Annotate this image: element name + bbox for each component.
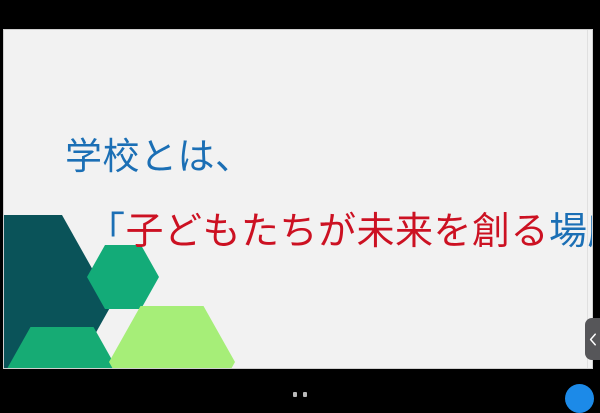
- presentation-viewer: 学校とは、 「子どもたちが未来を創る場所」: [0, 0, 600, 400]
- slide-text-block: 学校とは、 「子どもたちが未来を創る場所」: [4, 30, 592, 368]
- slide-quote-close: 場所」: [549, 209, 592, 253]
- slide-quote-emphasis: 子どもたちが未来を創る: [126, 209, 550, 253]
- drawer-toggle-button[interactable]: [585, 318, 600, 360]
- blue-circle-icon[interactable]: [565, 384, 594, 413]
- pagination-dot[interactable]: [293, 392, 297, 397]
- slide-heading-line-2: 「子どもたちが未来を創る場所」: [87, 200, 592, 255]
- slide-pagination-dots[interactable]: [0, 392, 600, 397]
- presentation-slide[interactable]: 学校とは、 「子どもたちが未来を創る場所」: [4, 30, 592, 368]
- slide-heading-line-1: 学校とは、: [65, 126, 253, 180]
- slide-quote-open-bracket: 「: [87, 209, 126, 253]
- pagination-dot[interactable]: [303, 392, 307, 397]
- chevron-left-icon: [589, 333, 597, 346]
